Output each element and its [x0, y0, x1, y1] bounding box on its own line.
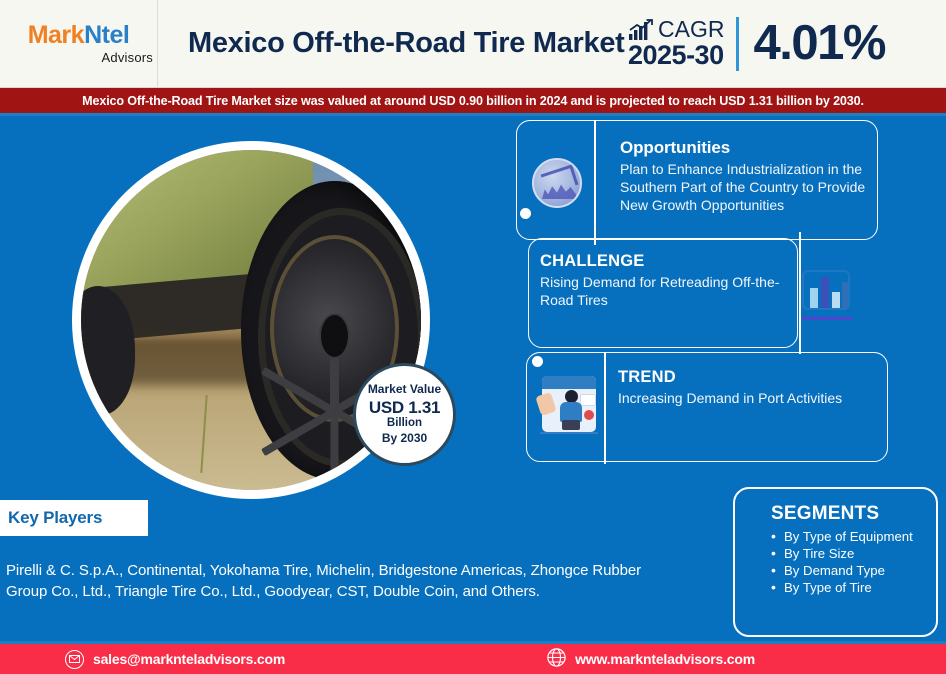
globe-growth-icon: [532, 158, 582, 208]
growth-chart-icon: [628, 19, 654, 41]
market-value-amount: USD 1.31: [369, 398, 440, 417]
market-size-banner: Mexico Off-the-Road Tire Market size was…: [0, 88, 946, 116]
market-value-label: Market Value: [368, 383, 441, 396]
header-bar: MarkNtel Advisors Mexico Off-the-Road Ti…: [0, 0, 946, 88]
logo-wordmark: MarkNtel: [28, 23, 130, 48]
connector-dot-opportunities: [520, 208, 531, 219]
card-trend-text: TREND Increasing Demand in Port Activiti…: [618, 368, 868, 408]
card-trend-body: Increasing Demand in Port Activities: [618, 390, 868, 408]
segment-item: By Type of Tire: [771, 580, 926, 596]
card-opportunities-title: Opportunities: [620, 138, 870, 158]
card-opportunities-text: Opportunities Plan to Enhance Industrial…: [620, 138, 870, 215]
footer-email-text: sales@marknteladvisors.com: [93, 651, 285, 667]
card-opportunities-body: Plan to Enhance Industrialization in the…: [620, 161, 870, 215]
segment-item: By Tire Size: [771, 546, 926, 562]
person-dashboard-icon: [534, 370, 604, 440]
cagr-value: 4.01%: [753, 19, 884, 68]
logo-text-mark: Mark: [28, 21, 84, 49]
globe-icon: [547, 648, 566, 670]
segments-list: By Type of Equipment By Tire Size By Dem…: [771, 529, 926, 596]
cagr-label: CAGR: [658, 18, 724, 41]
connector-dot-trend: [532, 356, 543, 367]
footer-email-group[interactable]: sales@marknteladvisors.com: [65, 650, 285, 669]
segment-item: By Demand Type: [771, 563, 926, 579]
logo-subtitle: Advisors: [102, 50, 153, 65]
logo-text-ntel: Ntel: [84, 21, 129, 49]
footer-bar: sales@marknteladvisors.com www.markntela…: [0, 641, 946, 674]
market-value-bubble: Market Value USD 1.31 Billion By 2030: [353, 363, 456, 466]
key-players-banner: Key Players: [0, 500, 148, 536]
bar-chart-icon: [798, 268, 858, 326]
key-players-label: Key Players: [0, 508, 102, 528]
market-value-year: By 2030: [382, 432, 427, 445]
wheel-hub: [319, 313, 351, 360]
key-players-list: Pirelli & C. S.p.A., Continental, Yokoha…: [6, 560, 666, 603]
cagr-label-row: CAGR: [628, 18, 724, 41]
footer-website-group[interactable]: www.marknteladvisors.com: [547, 648, 755, 670]
page-title: Mexico Off-the-Road Tire Market: [158, 27, 628, 59]
connector-line-trend: [604, 352, 606, 464]
cagr-years: 2025-30: [628, 41, 724, 69]
cagr-divider: [736, 17, 739, 71]
segment-item: By Type of Equipment: [771, 529, 926, 545]
card-challenge-body: Rising Demand for Retreading Off-the-Roa…: [540, 274, 790, 310]
card-challenge-text: CHALLENGE Rising Demand for Retreading O…: [540, 252, 790, 310]
markntel-advisors-logo: MarkNtel Advisors: [0, 0, 158, 88]
envelope-icon: [65, 650, 84, 669]
cagr-label-group: CAGR 2025-30: [628, 18, 736, 69]
market-value-unit: Billion: [387, 417, 422, 430]
card-challenge-title: CHALLENGE: [540, 252, 790, 271]
infographic-page: MarkNtel Advisors Mexico Off-the-Road Ti…: [0, 0, 946, 674]
cagr-block: CAGR 2025-30 4.01%: [628, 17, 909, 71]
segments-box: SEGMENTS By Type of Equipment By Tire Si…: [733, 487, 938, 637]
connector-line-opportunities: [594, 120, 596, 245]
footer-website-text: www.marknteladvisors.com: [575, 651, 755, 667]
card-trend-title: TREND: [618, 368, 868, 387]
insight-cards-group: Opportunities Plan to Enhance Industrial…: [516, 120, 916, 470]
segments-title: SEGMENTS: [771, 503, 926, 525]
